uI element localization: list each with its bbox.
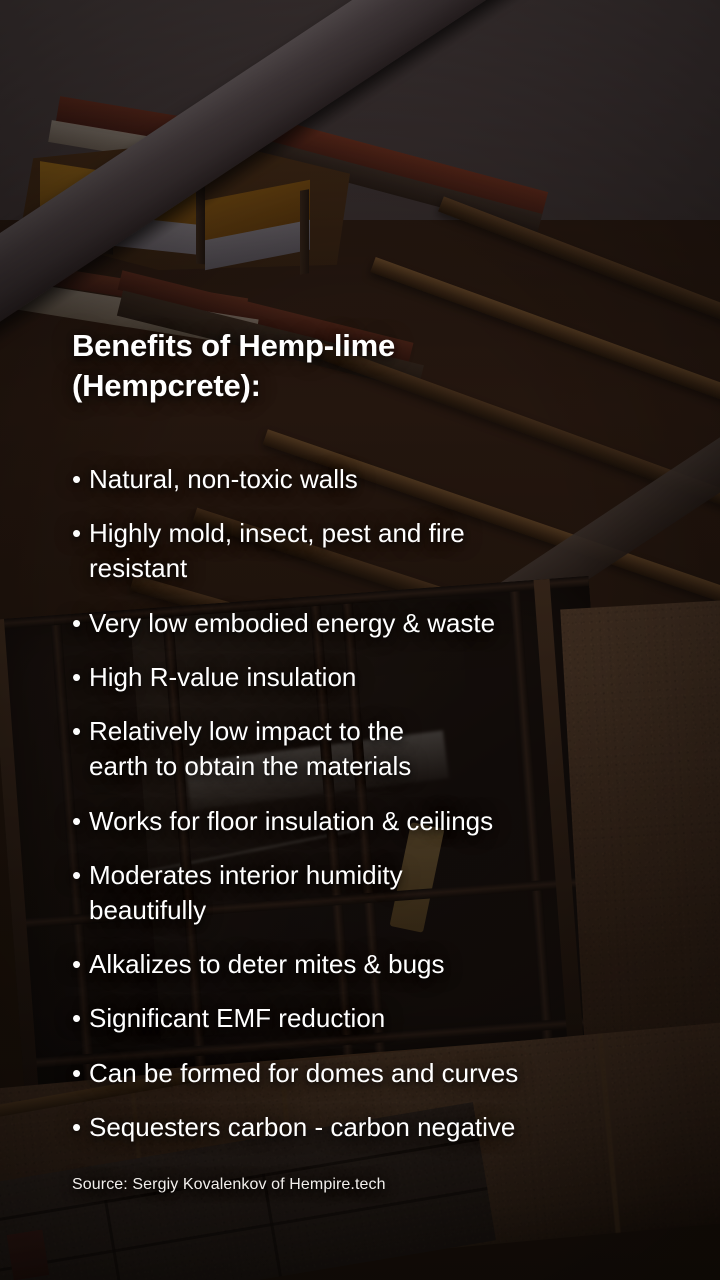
bullet-point-icon: • xyxy=(72,858,89,893)
list-item-label: Significant EMF reduction xyxy=(89,1001,692,1036)
list-item-label: Natural, non-toxic walls xyxy=(89,462,692,497)
bullet-point-icon: • xyxy=(72,714,89,749)
benefits-list: •Natural, non-toxic walls•Highly mold, i… xyxy=(72,462,692,1164)
list-item: •High R-value insulation xyxy=(72,660,692,695)
list-item-label: Moderates interior humidity beautifully xyxy=(89,858,692,928)
list-item-label: Sequesters carbon - carbon negative xyxy=(89,1110,692,1145)
list-item-label: Highly mold, insect, pest and fire resis… xyxy=(89,516,692,586)
list-item: •Relatively low impact to the earth to o… xyxy=(72,714,692,784)
bullet-point-icon: • xyxy=(72,606,89,641)
list-item: •Natural, non-toxic walls xyxy=(72,462,692,497)
bullet-point-icon: • xyxy=(72,804,89,839)
bullet-point-icon: • xyxy=(72,1001,89,1036)
list-item: •Significant EMF reduction xyxy=(72,1001,692,1036)
page-title: Benefits of Hemp-lime (Hempcrete): xyxy=(72,326,672,407)
list-item: •Works for floor insulation & ceilings xyxy=(72,804,692,839)
bullet-point-icon: • xyxy=(72,1056,89,1091)
list-item-label: Can be formed for domes and curves xyxy=(89,1056,692,1091)
bullet-point-icon: • xyxy=(72,516,89,551)
list-item: •Can be formed for domes and curves xyxy=(72,1056,692,1091)
bullet-point-icon: • xyxy=(72,462,89,497)
slide-canvas: Benefits of Hemp-lime (Hempcrete): •Natu… xyxy=(0,0,720,1280)
list-item-label: Very low embodied energy & waste xyxy=(89,606,692,641)
list-item: •Moderates interior humidity beautifully xyxy=(72,858,692,928)
list-item-label: High R-value insulation xyxy=(89,660,692,695)
bullet-point-icon: • xyxy=(72,947,89,982)
bullet-point-icon: • xyxy=(72,1110,89,1145)
list-item-label: Alkalizes to deter mites & bugs xyxy=(89,947,692,982)
list-item: •Highly mold, insect, pest and fire resi… xyxy=(72,516,692,586)
list-item: •Very low embodied energy & waste xyxy=(72,606,692,641)
list-item: •Sequesters carbon - carbon negative xyxy=(72,1110,692,1145)
list-item-label: Works for floor insulation & ceilings xyxy=(89,804,692,839)
slide-content: Benefits of Hemp-lime (Hempcrete): •Natu… xyxy=(0,0,720,1280)
list-item-label: Relatively low impact to the earth to ob… xyxy=(89,714,692,784)
bullet-point-icon: • xyxy=(72,660,89,695)
list-item: •Alkalizes to deter mites & bugs xyxy=(72,947,692,982)
source-credit: Source: Sergiy Kovalenkov of Hempire.tec… xyxy=(72,1176,386,1194)
